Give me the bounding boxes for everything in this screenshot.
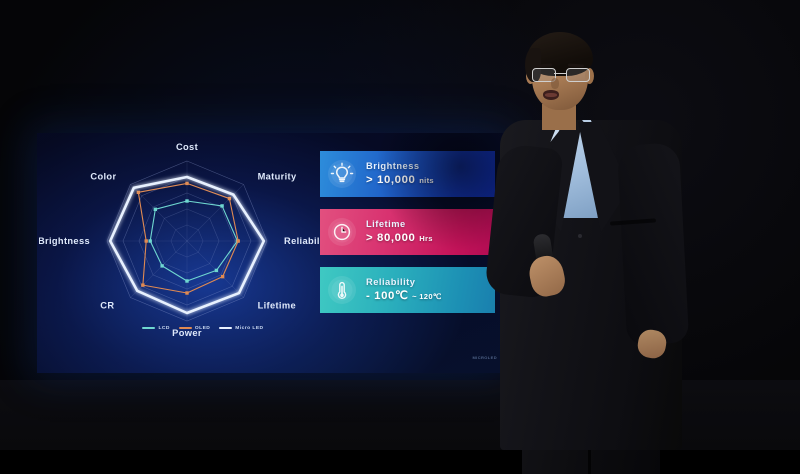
spec-card-brightness-title: Brightness — [366, 160, 434, 172]
spec-card-brightness: Brightness > 10,000 nits — [320, 151, 495, 197]
radar-axis-label-cost: Cost — [176, 142, 198, 152]
spec-card-brightness-text: Brightness > 10,000 nits — [364, 160, 434, 188]
presenter-arm-right — [617, 143, 689, 346]
radar-chart: CostMaturityReliabilityLifetimePowerCRBr… — [39, 137, 339, 347]
clock-icon — [320, 217, 364, 247]
radar-axis-label-cr: CR — [100, 301, 114, 311]
legend-swatch-lcd — [142, 327, 155, 329]
spec-card-lifetime-title: Lifetime — [366, 218, 433, 230]
radar-axis-label-brightness: Brightness — [39, 236, 90, 246]
spec-card-lifetime-value: > 80,000 Hrs — [366, 231, 433, 246]
legend-swatch-oled — [179, 327, 192, 329]
spec-card-reliability-text: Reliability - 100℃ ~ 120℃ — [364, 276, 442, 304]
glasses-icon — [530, 68, 592, 80]
presenter — [486, 24, 701, 450]
legend-item-lcd: LCD — [142, 326, 169, 331]
spec-card-lifetime-text: Lifetime > 80,000 Hrs — [364, 218, 433, 246]
spec-card-lifetime-unit: Hrs — [419, 234, 433, 243]
legend-swatch-microled — [219, 327, 232, 329]
presenter-jacket-button — [578, 234, 582, 238]
legend-item-microled: Micro LED — [219, 326, 263, 331]
spec-card-brightness-value: > 10,000 nits — [366, 173, 434, 188]
spec-card-reliability-title: Reliability — [366, 276, 442, 288]
spec-card-reliability-unit: ~ 120℃ — [412, 292, 442, 301]
presentation-slide: CostMaturityReliabilityLifetimePowerCRBr… — [37, 133, 507, 373]
spec-card-list: Brightness > 10,000 nits — [320, 151, 495, 325]
legend-label-oled: OLED — [195, 326, 210, 331]
presenter-nose — [551, 78, 559, 89]
spec-card-lifetime: Lifetime > 80,000 Hrs — [320, 209, 495, 255]
spec-card-reliability-number: - 100℃ — [366, 290, 408, 302]
spec-card-lifetime-number: > 80,000 — [366, 232, 415, 244]
legend-label-lcd: LCD — [158, 326, 169, 331]
spec-card-reliability: Reliability - 100℃ ~ 120℃ — [320, 267, 495, 313]
radar-axis-label-color: Color — [90, 171, 116, 181]
radar-chart-svg: CostMaturityReliabilityLifetimePowerCRBr… — [39, 137, 339, 347]
spec-card-brightness-number: > 10,000 — [366, 174, 415, 186]
presenter-mouth-inner — [545, 93, 557, 97]
thermometer-icon — [320, 275, 364, 305]
spec-card-brightness-unit: nits — [419, 176, 434, 185]
lightbulb-icon — [320, 159, 364, 189]
stage-scene: CostMaturityReliabilityLifetimePowerCRBr… — [0, 0, 800, 450]
spec-card-reliability-value: - 100℃ ~ 120℃ — [366, 289, 442, 304]
legend-label-microled: Micro LED — [235, 326, 263, 331]
legend-item-oled: OLED — [179, 326, 210, 331]
radar-axis-label-maturity: Maturity — [258, 171, 297, 181]
radar-axis-label-lifetime: Lifetime — [258, 301, 296, 311]
chart-legend: LCD OLED Micro LED — [113, 321, 293, 335]
